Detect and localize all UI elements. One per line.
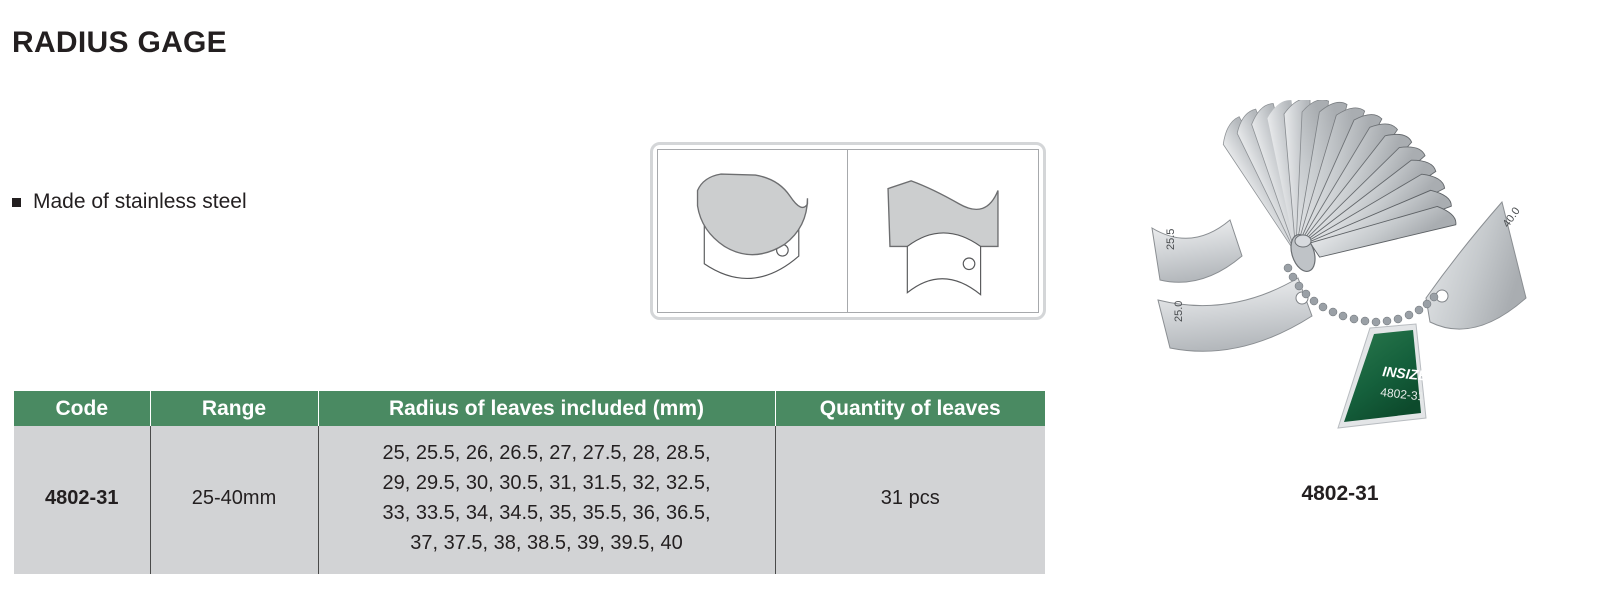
column-header-code: Code — [14, 391, 150, 426]
catalog-page: RADIUS GAGE Made of stainless steel — [0, 0, 1600, 607]
leaf-25-5: 25.5 — [1152, 220, 1242, 282]
photo-caption: 4802-31 — [1130, 482, 1550, 506]
concave-measurement-illustration — [658, 150, 847, 312]
table-header-row: Code Range Radius of leaves included (mm… — [14, 391, 1045, 426]
leaf-label-25-5: 25.5 — [1165, 229, 1177, 250]
diagram-panel-concave-measurement — [658, 150, 848, 312]
product-photo: 25.5 25.0 40.0 — [1130, 100, 1550, 435]
radius-line: 33, 33.5, 34, 34.5, 35, 35.5, 36, 36.5, — [325, 498, 769, 528]
column-header-range: Range — [150, 391, 318, 426]
radius-line: 29, 29.5, 30, 30.5, 31, 31.5, 32, 32.5, — [325, 468, 769, 498]
feature-item: Made of stainless steel — [12, 190, 247, 214]
table-row: 4802-31 25-40mm 25, 25.5, 26, 26.5, 27, … — [14, 426, 1045, 574]
cell-radius-list: 25, 25.5, 26, 26.5, 27, 27.5, 28, 28.5, … — [318, 426, 775, 574]
cell-code: 4802-31 — [14, 426, 150, 574]
page-title: RADIUS GAGE — [12, 26, 227, 60]
cell-quantity: 31 pcs — [775, 426, 1045, 574]
leaf-label-25-0: 25.0 — [1173, 301, 1185, 322]
cell-range: 25-40mm — [150, 426, 318, 574]
diagram-inner-border — [657, 149, 1039, 313]
radius-line: 25, 25.5, 26, 26.5, 27, 27.5, 28, 28.5, — [325, 438, 769, 468]
feature-text: Made of stainless steel — [33, 190, 247, 214]
radius-line: 37, 37.5, 38, 38.5, 39, 39.5, 40 — [325, 528, 769, 558]
leaf-hole — [963, 258, 975, 270]
leaf-25-0: 25.0 — [1158, 278, 1312, 351]
brand-tag: INSIZE 4802-31 — [1338, 324, 1429, 428]
convex-measurement-illustration — [848, 150, 1038, 312]
diagram-panel-convex-measurement — [848, 150, 1038, 312]
square-bullet-icon — [12, 198, 21, 207]
column-header-radius: Radius of leaves included (mm) — [318, 391, 775, 426]
leaf-fan — [1215, 100, 1456, 274]
column-header-quantity: Quantity of leaves — [775, 391, 1045, 426]
radius-gage-photo-illustration: 25.5 25.0 40.0 — [1130, 100, 1550, 435]
feature-list: Made of stainless steel — [12, 190, 247, 214]
specification-table: Code Range Radius of leaves included (mm… — [14, 391, 1045, 574]
technical-diagram — [650, 142, 1046, 320]
